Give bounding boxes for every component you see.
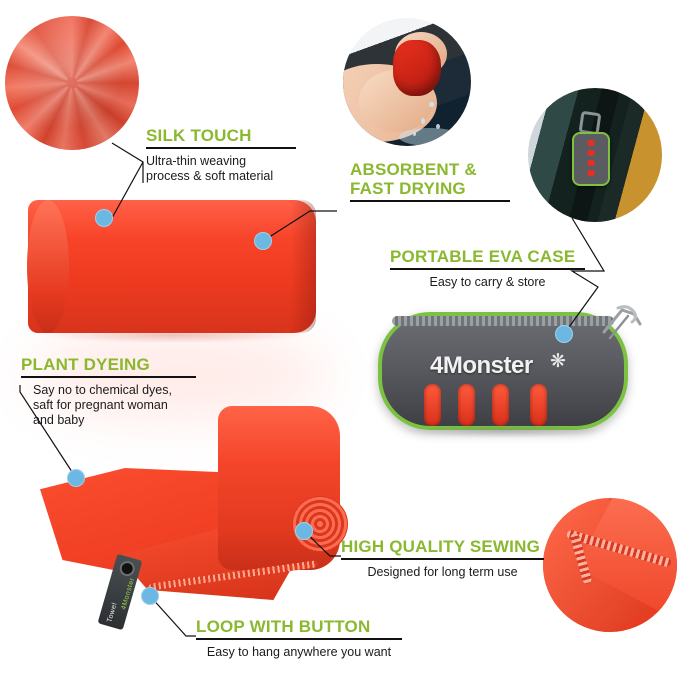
eva-case-zipper <box>392 316 614 326</box>
feature-description: Ultra-thin weaving process & soft materi… <box>146 154 296 184</box>
feature-portable-eva-case: PORTABLE EVA CASE Easy to carry & store <box>390 247 585 290</box>
towel-roll-body <box>28 200 316 333</box>
water-splash <box>399 128 461 146</box>
mini-case-slot <box>588 160 595 166</box>
mini-case-slot <box>588 150 595 156</box>
case-on-backpack-photo <box>528 88 662 222</box>
feature-title: SILK TOUCH <box>146 126 296 145</box>
feature-title: LOOP WITH BUTTON <box>196 617 402 636</box>
folded-towel-bottom <box>40 400 370 620</box>
feature-loop-with-button: LOOP WITH BUTTON Easy to hang anywhere y… <box>196 617 402 660</box>
feature-silk-touch: SILK TOUCH Ultra-thin weaving process & … <box>146 126 296 184</box>
feature-high-quality-sewing: HIGH QUALITY SEWING Designed for long te… <box>341 537 544 580</box>
feature-description: Easy to carry & store <box>390 275 585 290</box>
rolled-towel-top <box>28 200 316 333</box>
feature-underline <box>350 200 510 202</box>
towel-roll-shadow <box>36 327 310 343</box>
eva-case-shadow <box>398 424 608 438</box>
infographic-canvas: 4Monster Towel 4Monster ❋ <box>0 0 679 679</box>
hang-tag-label: Towel <box>106 602 118 624</box>
eva-case-elastic-slot <box>458 384 475 426</box>
dot-portable-case <box>555 325 573 343</box>
water-droplet <box>429 102 434 107</box>
hands-wringing-towel-photo <box>343 18 471 146</box>
stitched-hem-photo <box>543 498 677 632</box>
towel-roll-edge <box>290 200 316 333</box>
feature-title: PLANT DYEING <box>21 355 196 374</box>
dot-plant-dyeing <box>67 469 85 487</box>
water-droplet <box>421 118 425 124</box>
red-towel-in-hand <box>393 40 441 96</box>
feature-underline <box>146 147 296 149</box>
mini-eva-case <box>572 132 610 186</box>
snap-button-icon <box>118 559 137 578</box>
feature-title: HIGH QUALITY SEWING <box>341 537 544 556</box>
feature-underline <box>21 376 196 378</box>
feature-title: ABSORBENT & FAST DRYING <box>350 160 510 198</box>
monster-paw-icon: ❋ <box>550 352 566 371</box>
feature-underline <box>341 558 544 560</box>
logo-number: 4 <box>430 352 443 379</box>
dot-high-quality-sewing <box>295 522 313 540</box>
feature-underline <box>390 268 585 270</box>
feature-plant-dyeing: PLANT DYEING Say no to chemical dyes, sa… <box>21 355 196 428</box>
towel-roll-end-cap <box>27 200 69 333</box>
dot-loop-with-button <box>141 587 159 605</box>
fabric-swirl-photo <box>5 16 139 150</box>
mini-case-slot <box>588 140 595 146</box>
logo-word: Monster <box>443 352 533 379</box>
eva-case-logo: 4Monster <box>430 352 533 380</box>
eva-case-elastic-slot <box>492 384 509 426</box>
feature-description: Say no to chemical dyes, saft for pregna… <box>21 383 196 428</box>
feature-title: PORTABLE EVA CASE <box>390 247 585 266</box>
mini-case-slot <box>588 170 595 176</box>
dot-absorbent <box>254 232 272 250</box>
feature-underline <box>196 638 402 640</box>
feature-absorbent-fast-drying: ABSORBENT & FAST DRYING <box>350 160 510 202</box>
eva-case-lanyard-icon <box>600 304 646 344</box>
dot-silk-touch <box>95 209 113 227</box>
eva-case: 4Monster ❋ <box>378 312 628 430</box>
feature-description: Easy to hang anywhere you want <box>196 645 402 660</box>
eva-case-elastic-slot <box>530 384 547 426</box>
eva-case-elastic-slot <box>424 384 441 426</box>
feature-description: Designed for long term use <box>341 565 544 580</box>
